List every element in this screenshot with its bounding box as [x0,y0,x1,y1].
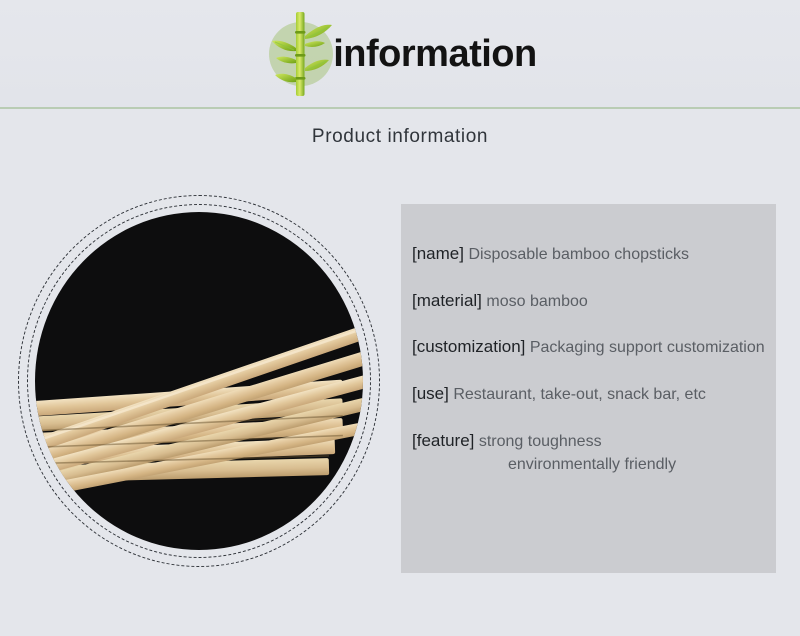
bamboo-chopsticks-illustration [35,212,363,550]
spec-key: [feature] [412,431,474,450]
spec-row-use: [use] Restaurant, take-out, snack bar, e… [412,382,772,407]
spec-row-feature: [feature] strong toughness environmental… [412,429,772,476]
spec-row-material: [material] moso bamboo [412,289,772,314]
page-header: information [0,0,800,108]
spec-value: moso bamboo [486,293,587,310]
spec-key: [material] [412,291,482,310]
spec-row-customization: [customization] Packaging support custom… [412,335,772,360]
header-content: information [0,0,800,108]
header-divider [0,107,800,109]
bamboo-stalk-glyph [263,10,339,98]
spec-list: [name] Disposable bamboo chopsticks [mat… [412,242,772,476]
product-image-frame [18,195,382,569]
spec-panel: [name] Disposable bamboo chopsticks [mat… [401,204,776,573]
spec-value: strong toughness [479,433,602,450]
spec-key: [name] [412,244,464,263]
section-subtitle: Product information [312,126,488,148]
spec-key: [use] [412,384,449,403]
spec-value: Restaurant, take-out, snack bar, etc [453,386,706,403]
spec-value: Disposable bamboo chopsticks [468,246,689,263]
bamboo-stalk-icon [263,16,339,92]
spec-row-name: [name] Disposable bamboo chopsticks [412,242,772,267]
subtitle-bar: Product information [0,112,800,162]
page-title: information [333,35,536,73]
spec-value: Packaging support customization [530,339,765,356]
product-photo [35,212,363,550]
spec-value-secondary: environmentally friendly [412,454,772,477]
spec-key: [customization] [412,337,525,356]
